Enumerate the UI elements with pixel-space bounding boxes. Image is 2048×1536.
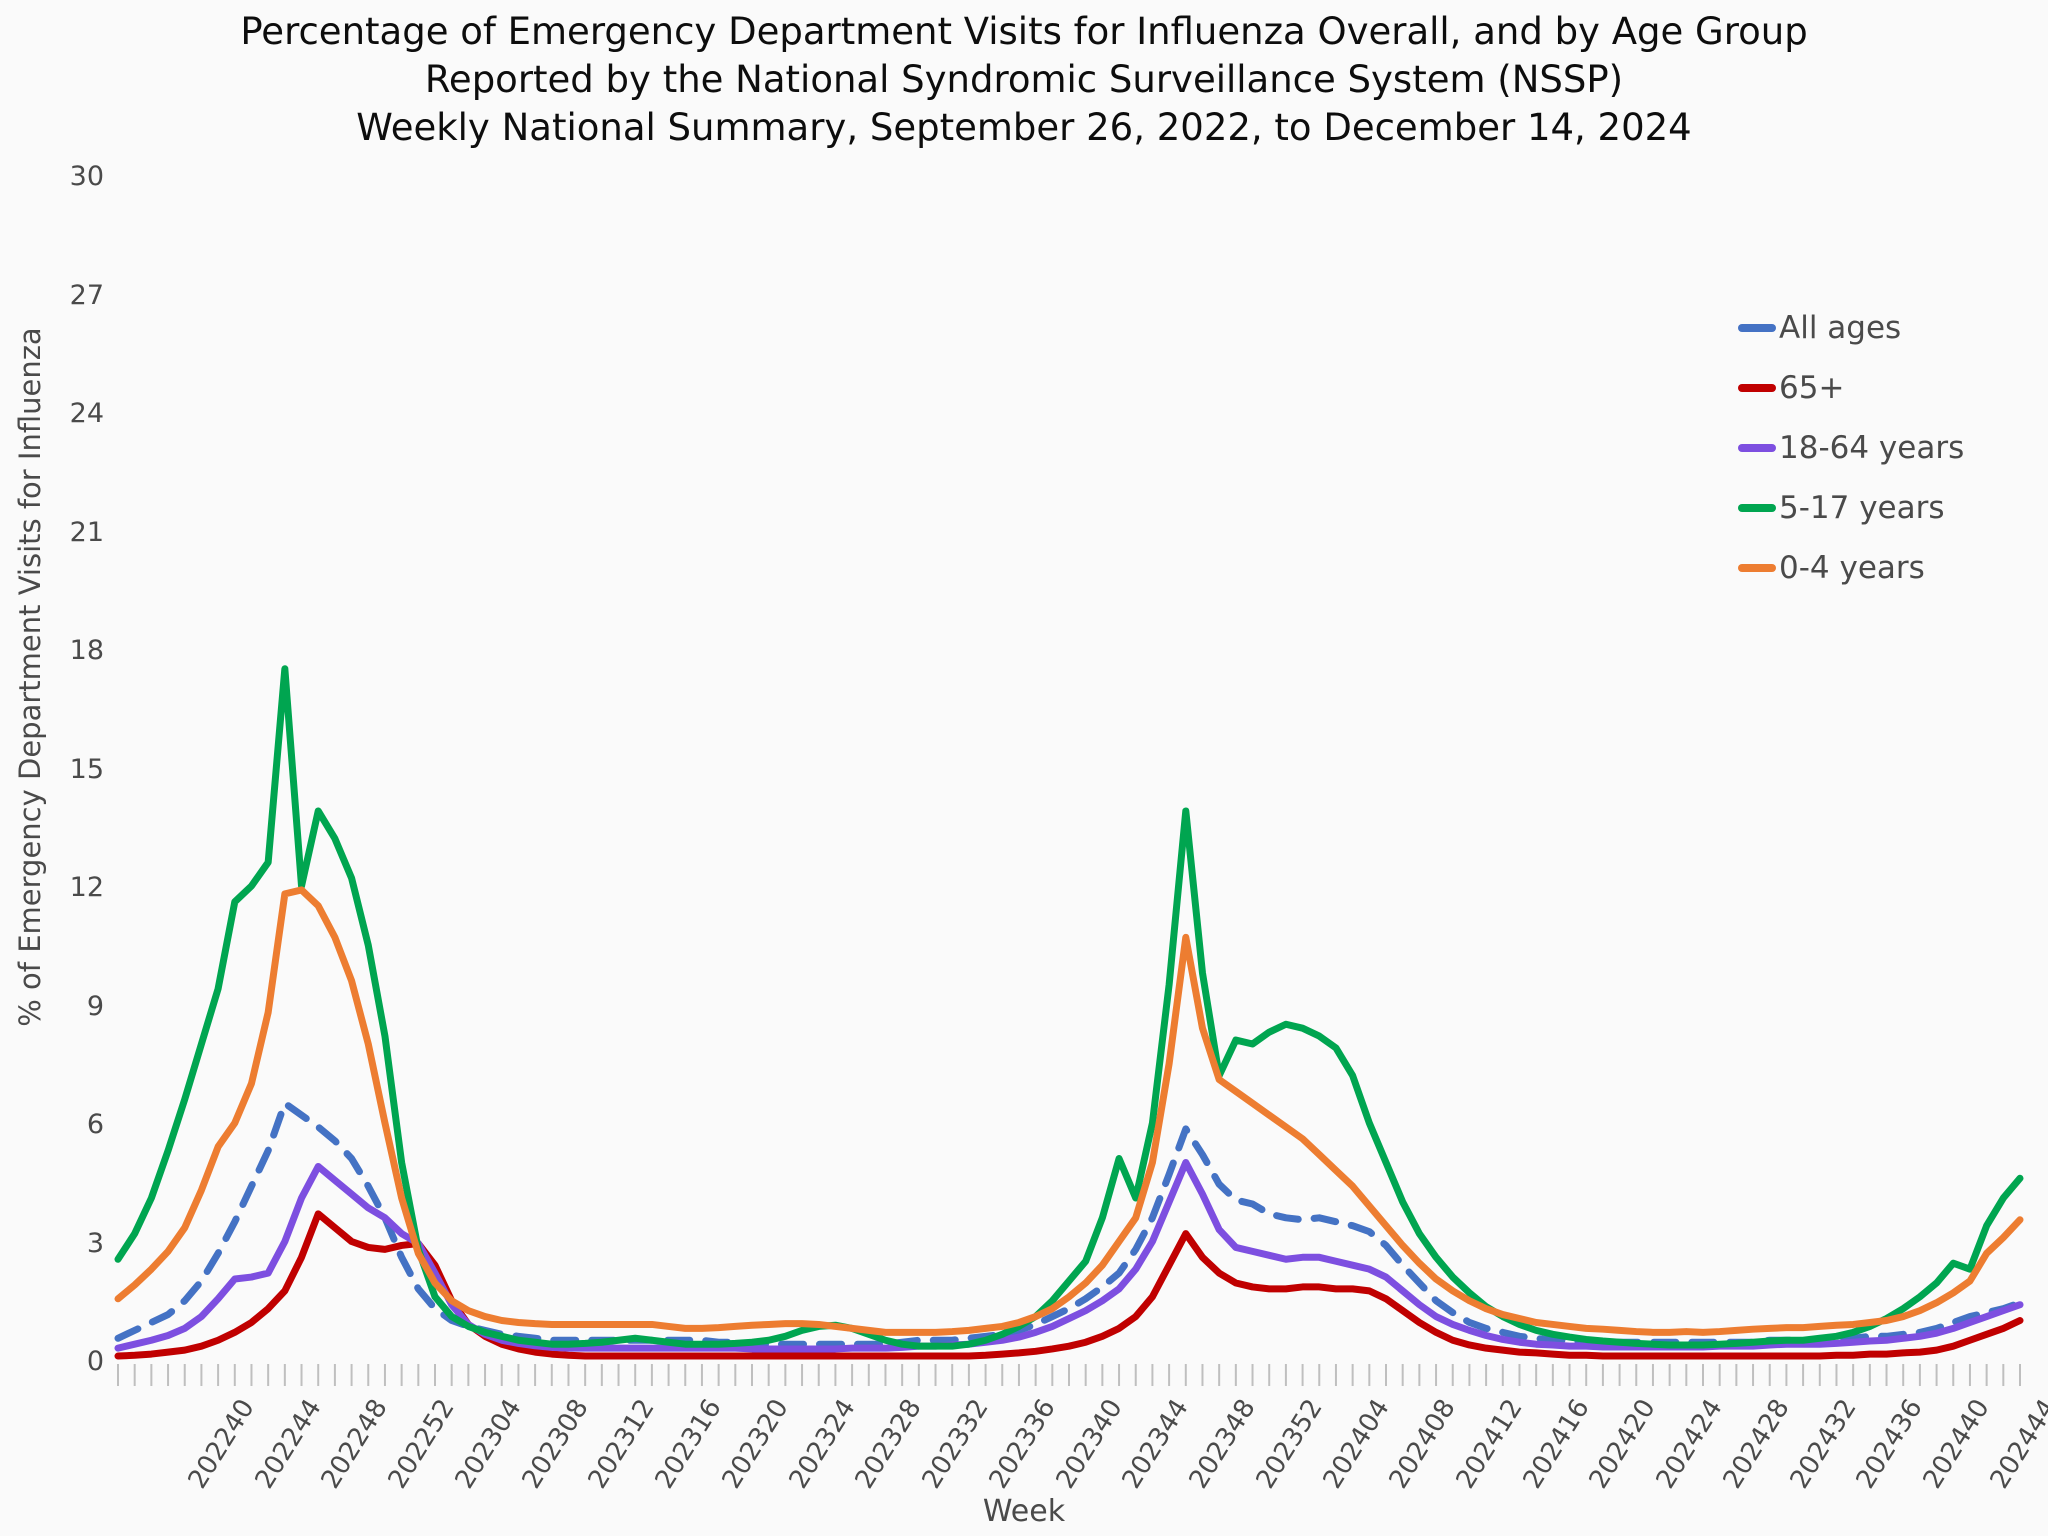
legend-item-label: 0-4 years: [1779, 550, 1925, 586]
plot-area: [0, 0, 2048, 1536]
chart-legend: All ages65+18-64 years5-17 years0-4 year…: [1738, 310, 1964, 586]
legend-item[interactable]: 18-64 years: [1738, 430, 1964, 466]
legend-swatch-icon: [1738, 564, 1776, 572]
legend-item-label: 18-64 years: [1779, 430, 1964, 466]
legend-swatch-icon: [1738, 504, 1776, 512]
legend-item[interactable]: 5-17 years: [1738, 490, 1964, 526]
legend-swatch-icon: [1738, 324, 1776, 332]
legend-item[interactable]: All ages: [1738, 310, 1964, 346]
legend-item[interactable]: 65+: [1738, 370, 1964, 406]
legend-swatch-icon: [1738, 384, 1776, 392]
legend-swatch-icon: [1738, 444, 1776, 452]
series-line-all-ages: [118, 1103, 2020, 1344]
influenza-ed-visits-chart: Percentage of Emergency Department Visit…: [0, 0, 2048, 1536]
legend-item-label: All ages: [1779, 310, 1901, 346]
legend-item[interactable]: 0-4 years: [1738, 550, 1964, 586]
legend-item-label: 5-17 years: [1779, 490, 1945, 526]
legend-item-label: 65+: [1779, 370, 1844, 406]
